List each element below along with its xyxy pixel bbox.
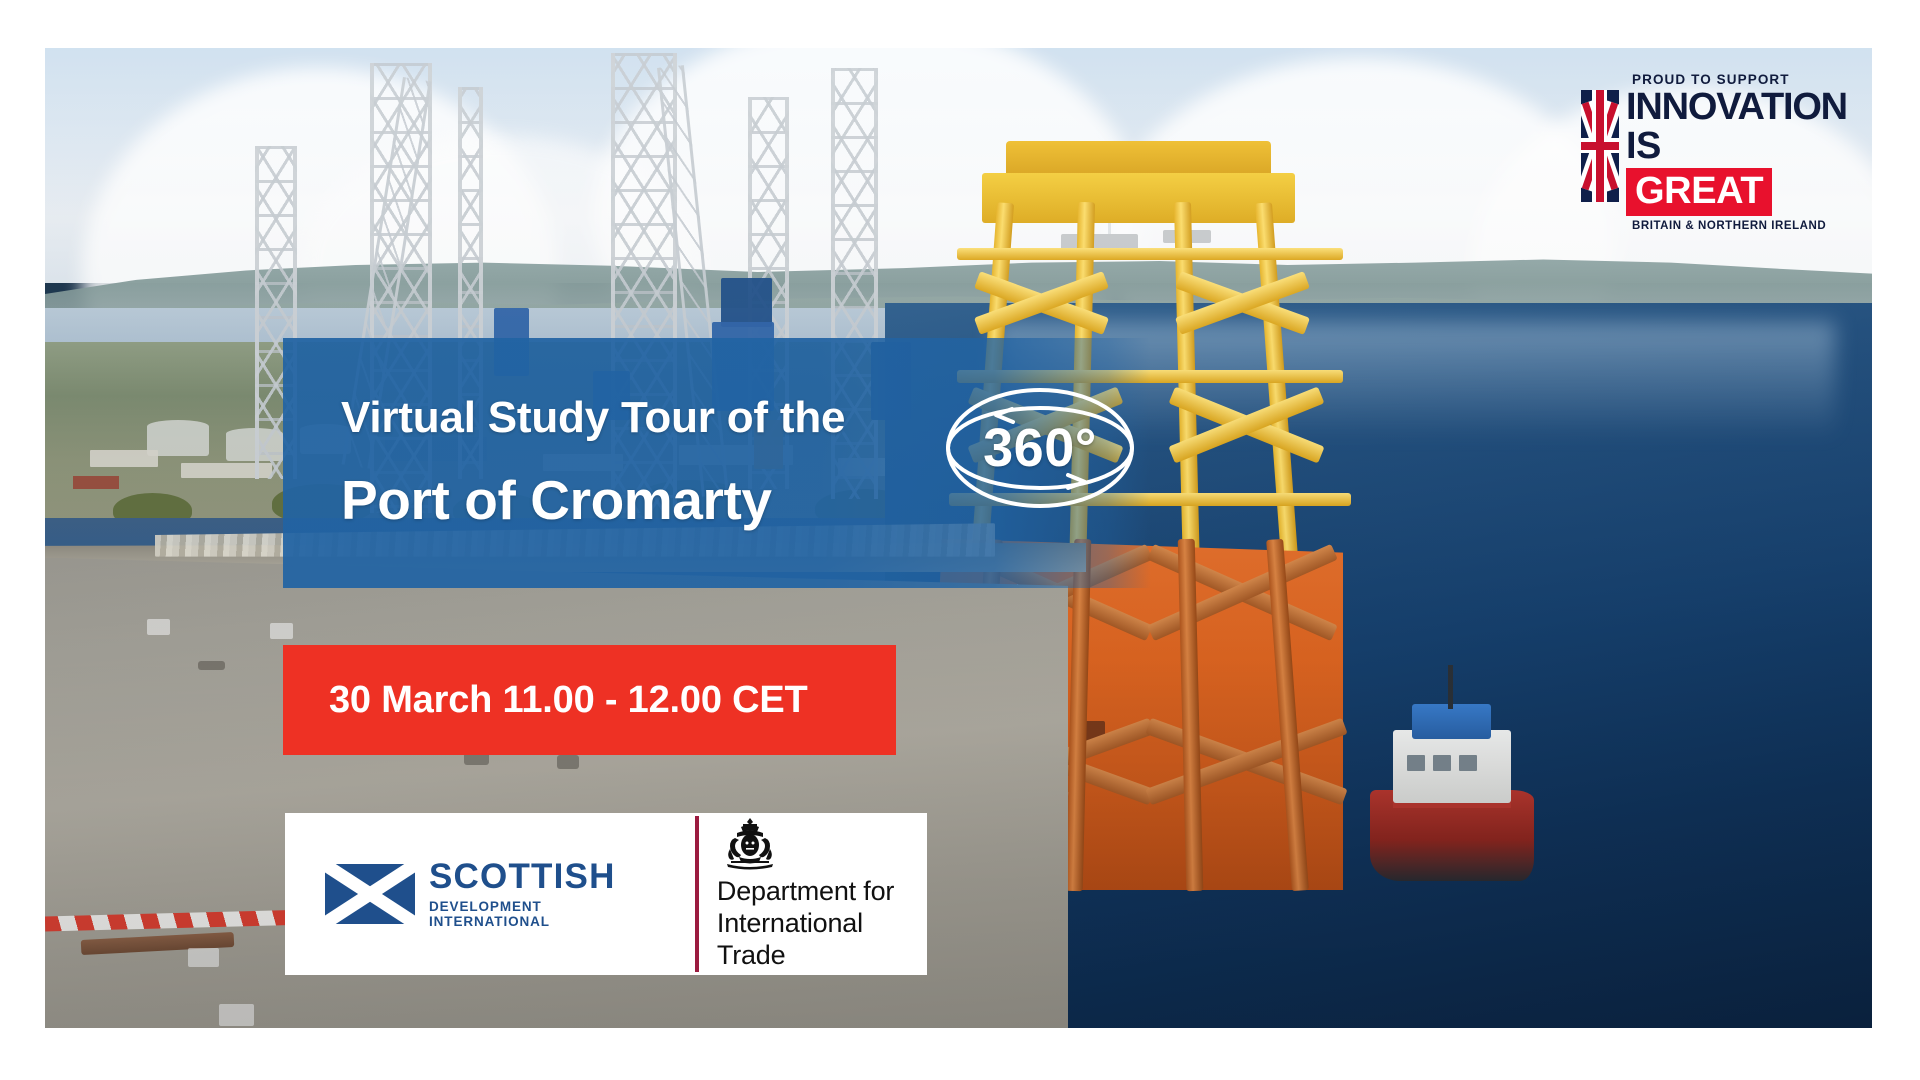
scotland-saltire-flag-icon (325, 864, 415, 924)
royal-coat-of-arms-icon (717, 816, 783, 872)
great-logo-row: INNOVATION IS GREAT (1581, 90, 1851, 216)
britain-northern-ireland-label: BRITAIN & NORTHERN IRELAND (1632, 220, 1851, 232)
great-wordmark: INNOVATION IS GREAT (1626, 90, 1847, 216)
360-label: 360° (940, 378, 1140, 518)
page-title: Port of Cromarty (341, 470, 923, 532)
scottish-development-international-logo: SCOTTISH DEVELOPMENT INTERNATIONAL (285, 859, 651, 929)
great-word-innovation: INNOVATION (1626, 90, 1847, 126)
date-banner: 30 March 11.00 - 12.00 CET (283, 645, 896, 755)
title-text-group: Virtual Study Tour of the Port of Cromar… (283, 394, 923, 532)
dit-line-2: International Trade (717, 908, 927, 972)
great-word-is: IS (1626, 127, 1847, 165)
proud-to-support-label: PROUD TO SUPPORT (1632, 72, 1851, 87)
dit-body: Department for International Trade (717, 816, 927, 972)
tug-boat-icon (1370, 665, 1534, 881)
title-line-1: Virtual Study Tour of the (341, 394, 923, 442)
innovation-is-great-logo: PROUD TO SUPPORT INNOVATION IS GREAT BRI… (1581, 72, 1851, 212)
sdi-subtitle: DEVELOPMENT INTERNATIONAL (429, 899, 651, 929)
dit-line-1: Department for (717, 876, 927, 908)
event-datetime: 30 March 11.00 - 12.00 CET (283, 679, 808, 722)
dit-vertical-rule (695, 816, 699, 972)
partner-logo-box: SCOTTISH DEVELOPMENT INTERNATIONAL (285, 813, 927, 975)
poster-canvas: Virtual Study Tour of the Port of Cromar… (0, 0, 1920, 1080)
sdi-name: SCOTTISH (429, 859, 651, 894)
department-for-international-trade-logo: Department for International Trade (695, 816, 927, 972)
crane-housing (721, 278, 772, 327)
great-word-great: GREAT (1626, 168, 1772, 216)
sdi-wordmark: SCOTTISH DEVELOPMENT INTERNATIONAL (429, 859, 651, 929)
360-rotation-icon: 360° (940, 378, 1140, 518)
union-jack-icon (1581, 90, 1619, 202)
